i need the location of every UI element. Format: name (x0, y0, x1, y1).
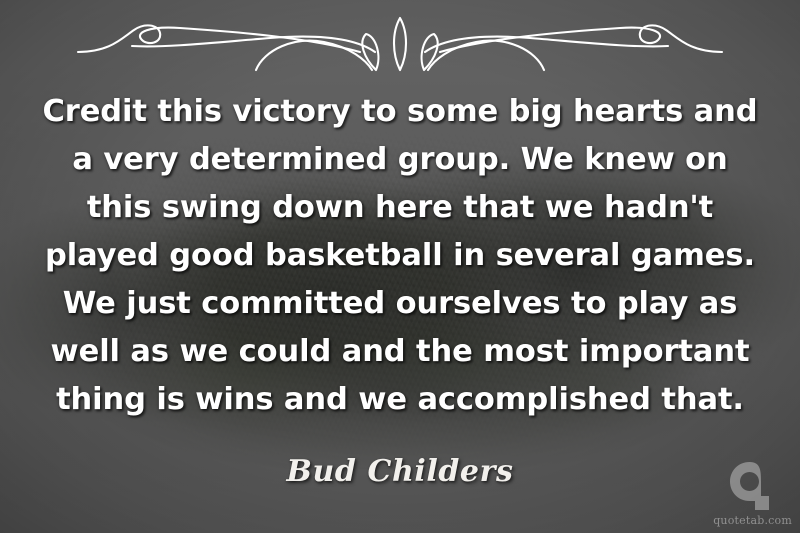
quote-line: We just committed ourselves to play as (35, 280, 765, 328)
card-content: Credit this victory to some big hearts a… (0, 0, 800, 533)
quote-text: Credit this victory to some big hearts a… (35, 88, 765, 424)
quote-line: played good basketball in several games. (35, 232, 765, 280)
quote-line: Credit this victory to some big hearts a… (35, 88, 765, 136)
quote-line: thing is wins and we accomplished that. (35, 376, 765, 424)
quote-image-card: Credit this victory to some big hearts a… (0, 0, 800, 533)
quote-line: this swing down here that we hadn't (35, 184, 765, 232)
quote-line: a very determined group. We knew on (35, 136, 765, 184)
watermark[interactable]: quotetab.com (713, 460, 792, 527)
watermark-site-text: quotetab.com (713, 514, 792, 527)
decorative-flourish-icon (70, 8, 730, 74)
quote-author: Bud Childers (286, 454, 513, 489)
quote-line: well as we could and the most important (35, 328, 765, 376)
q-logo-icon (728, 460, 778, 512)
